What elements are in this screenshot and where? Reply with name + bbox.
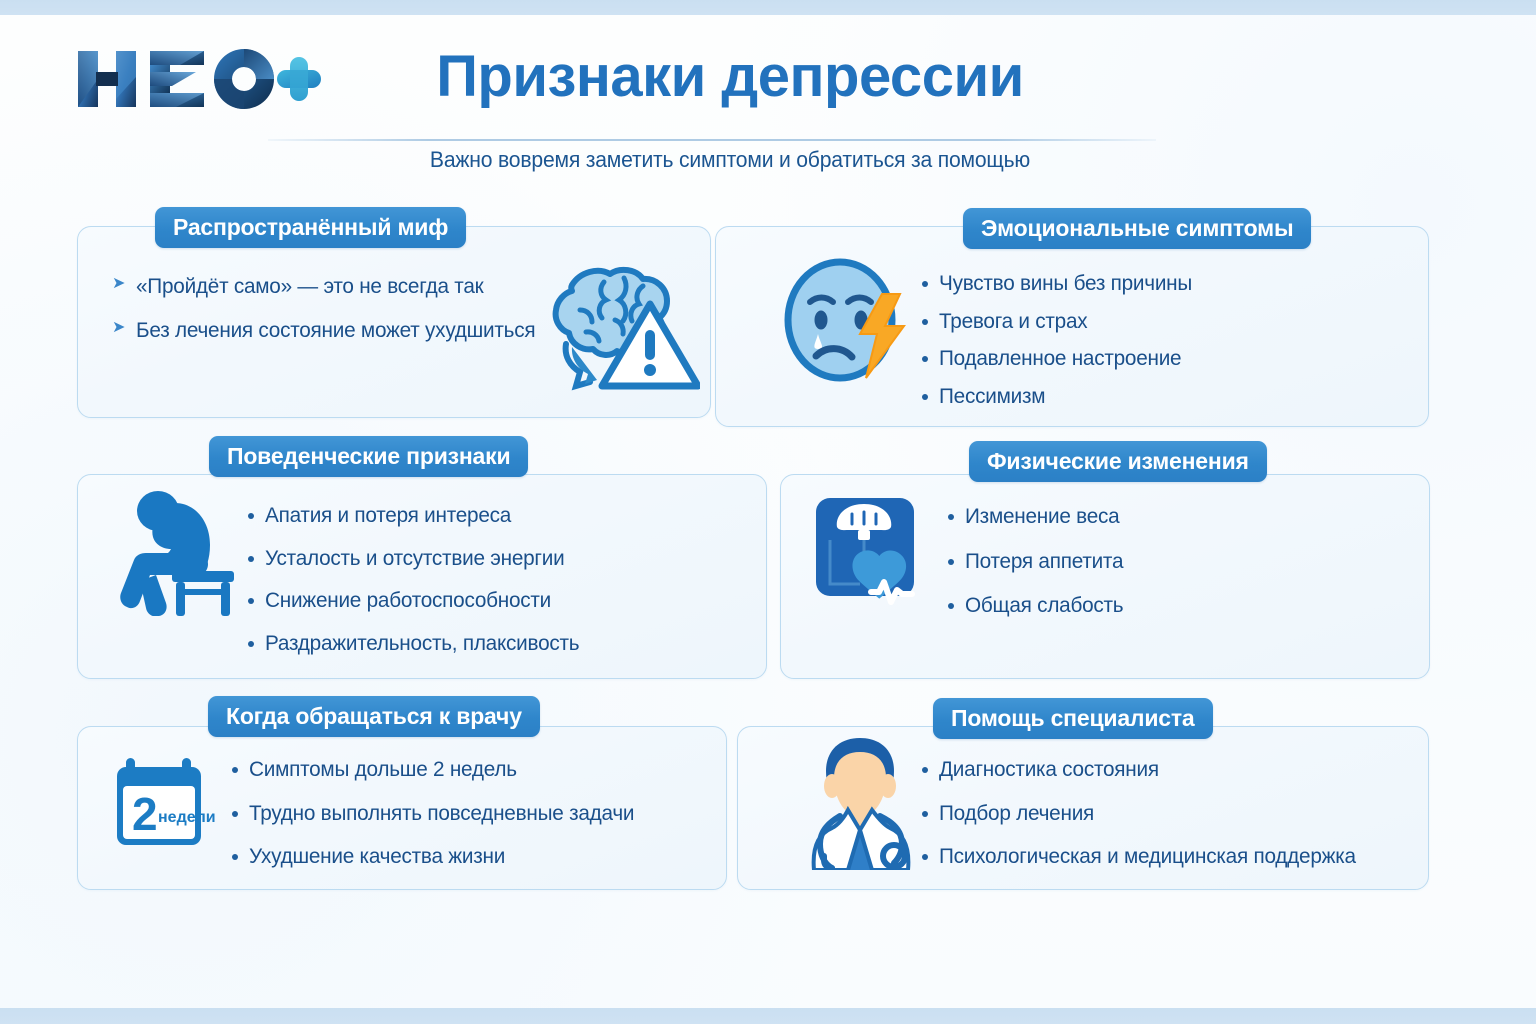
- top-accent-band: [0, 0, 1536, 15]
- bullet-dot-icon: [248, 598, 254, 604]
- page-title: Признаки депрессии: [330, 43, 1130, 110]
- list-item-label: Психологическая и медицинская поддержка: [939, 845, 1356, 868]
- card-when-to-see-doctor-list: Симптомы дольше 2 недель Трудно выполнят…: [232, 758, 648, 883]
- list-item-label: Потеря аппетита: [965, 550, 1123, 573]
- list-item: Чувство вины без причины: [922, 272, 1201, 295]
- list-item: Апатия и потеря интереса: [248, 504, 591, 527]
- brand-logo: [72, 39, 322, 119]
- card-emotional-list: Чувство вины без причины Тревога и страх…: [922, 272, 1201, 422]
- bullet-dot-icon: [232, 811, 238, 817]
- list-item-label: «Пройдёт само» — это не всегда так: [136, 275, 483, 298]
- list-item-label: Подавленное настроение: [939, 347, 1181, 370]
- card-when-to-see-doctor-title: Когда обращаться к врачу: [208, 696, 540, 737]
- card-specialist-help-list: Диагностика состояния Подбор лечения Пси…: [922, 758, 1371, 883]
- card-physical-title: Физические изменения: [969, 441, 1267, 482]
- list-item: Диагностика состояния: [922, 758, 1371, 781]
- title-divider: [268, 139, 1156, 141]
- bullet-dot-icon: [922, 356, 928, 362]
- list-item-label: Общая слабость: [965, 594, 1123, 617]
- bottom-accent-band: [0, 1008, 1536, 1024]
- list-item-label: Пессимизм: [939, 385, 1045, 408]
- list-item-label: Раздражительность, плаксивость: [265, 632, 579, 655]
- list-item: Симптомы дольше 2 недель: [232, 758, 648, 781]
- list-item: Изменение веса: [948, 505, 1129, 528]
- calendar-big-label: 2: [132, 788, 158, 840]
- list-item: Подавленное настроение: [922, 347, 1201, 370]
- arrow-bullet-icon: ➤: [112, 320, 125, 336]
- weight-scale-heartbeat-icon: [812, 492, 940, 625]
- list-item: Ухудшение качества жизни: [232, 845, 648, 868]
- bullet-dot-icon: [922, 319, 928, 325]
- bullet-dot-icon: [248, 513, 254, 519]
- list-item-label: Тревога и страх: [939, 310, 1087, 333]
- list-item-label: Усталость и отсутствие энергии: [265, 547, 564, 570]
- bullet-dot-icon: [922, 394, 928, 400]
- list-item-label: Ухудшение качества жизни: [249, 845, 505, 868]
- card-physical-list: Изменение веса Потеря аппетита Общая сла…: [948, 505, 1129, 632]
- list-item-label: Апатия и потеря интереса: [265, 504, 511, 527]
- list-item: Подбор лечения: [922, 802, 1371, 825]
- list-item-label: Симптомы дольше 2 недель: [249, 758, 517, 781]
- calendar-2-weeks-icon: 2 недели: [110, 752, 220, 857]
- list-item-label: Снижение работоспособности: [265, 589, 551, 612]
- bullet-dot-icon: [948, 559, 954, 565]
- infographic-page: Признаки депрессии Важно вовремя заметит…: [0, 0, 1536, 1024]
- list-item-label: Чувство вины без причины: [939, 272, 1192, 295]
- doctor-icon: [790, 730, 930, 875]
- list-item: ➤ «Пройдёт само» — это не всегда так: [112, 275, 550, 298]
- list-item-label: Трудно выполнять повседневные задачи: [249, 802, 634, 825]
- sad-face-lightning-icon: [782, 254, 908, 397]
- bullet-dot-icon: [922, 281, 928, 287]
- bullet-dot-icon: [948, 514, 954, 520]
- list-item: Раздражительность, плаксивость: [248, 632, 591, 655]
- page-subtitle: Важно вовремя заметить симптоми и обрати…: [346, 147, 1114, 173]
- slumped-person-icon: [120, 483, 240, 621]
- bullet-dot-icon: [232, 767, 238, 773]
- card-specialist-help-title: Помощь специалиста: [933, 698, 1213, 739]
- list-item: Снижение работоспособности: [248, 589, 591, 612]
- bullet-dot-icon: [232, 854, 238, 860]
- list-item: ➤ Без лечения состояние может ухудшиться: [112, 319, 550, 342]
- list-item: Потеря аппетита: [948, 550, 1129, 573]
- card-behavioral-list: Апатия и потеря интереса Усталость и отс…: [248, 504, 591, 669]
- bullet-dot-icon: [948, 603, 954, 609]
- brain-warning-icon: [520, 252, 700, 402]
- list-item: Общая слабость: [948, 594, 1129, 617]
- list-item-label: Без лечения состояние может ухудшиться: [136, 319, 535, 342]
- list-item: Трудно выполнять повседневные задачи: [232, 802, 648, 825]
- bullet-dot-icon: [248, 556, 254, 562]
- card-emotional-title: Эмоциональные симптомы: [963, 208, 1311, 249]
- list-item-label: Диагностика состояния: [939, 758, 1159, 781]
- list-item-label: Подбор лечения: [939, 802, 1094, 825]
- list-item: Пессимизм: [922, 385, 1201, 408]
- list-item: Психологическая и медицинская поддержка: [922, 845, 1371, 868]
- card-myth-list: ➤ «Пройдёт само» — это не всегда так ➤ Б…: [112, 275, 550, 356]
- arrow-bullet-icon: ➤: [112, 276, 125, 292]
- calendar-small-label: недели: [158, 809, 216, 826]
- card-myth-title: Распространённый миф: [155, 207, 466, 248]
- card-behavioral-title: Поведенческие признаки: [209, 436, 528, 477]
- list-item-label: Изменение веса: [965, 505, 1119, 528]
- list-item: Усталость и отсутствие энергии: [248, 547, 591, 570]
- list-item: Тревога и страх: [922, 310, 1201, 333]
- header: Признаки депрессии Важно вовремя заметит…: [0, 15, 1536, 175]
- bullet-dot-icon: [248, 641, 254, 647]
